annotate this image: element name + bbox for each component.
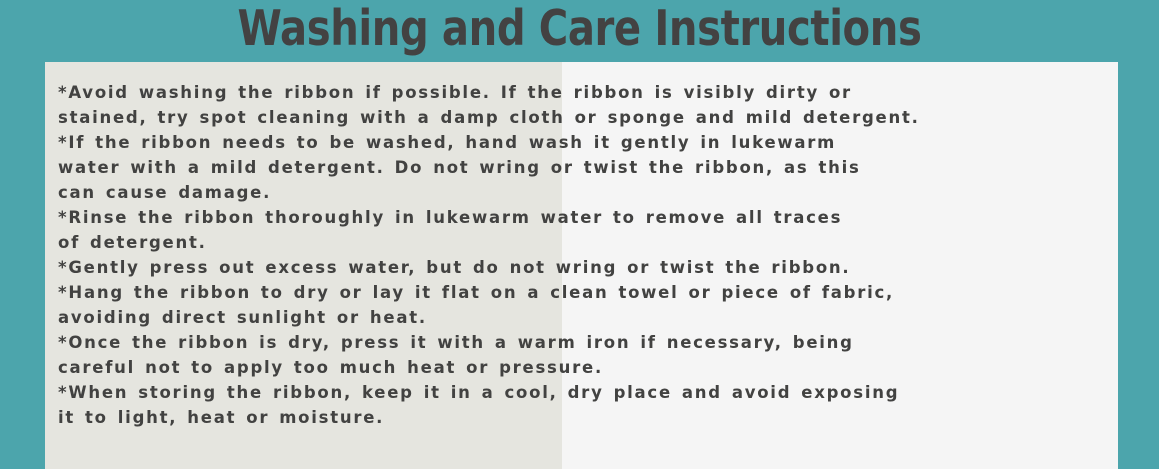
instruction-line: water with a mild detergent. Do not wrin… [58, 155, 1114, 180]
instructions-list: *Avoid washing the ribbon if possible. I… [58, 80, 1114, 450]
instruction-line: avoiding direct sunlight or heat. [58, 305, 1114, 330]
instruction-line: stained, try spot cleaning with a damp c… [58, 105, 1114, 130]
instruction-line: *Gently press out excess water, but do n… [58, 255, 1114, 280]
instruction-line: of detergent. [58, 230, 1114, 255]
instruction-line: *Once the ribbon is dry, press it with a… [58, 330, 1114, 355]
instruction-line: *When storing the ribbon, keep it in a c… [58, 380, 1114, 405]
instruction-line: *Hang the ribbon to dry or lay it flat o… [58, 280, 1114, 305]
instruction-line: careful not to apply too much heat or pr… [58, 355, 1114, 380]
poster-canvas: Washing and Care Instructions *Avoid was… [0, 0, 1159, 469]
instruction-line: can cause damage. [58, 180, 1114, 205]
instruction-line: *Avoid washing the ribbon if possible. I… [58, 80, 1114, 105]
instruction-line: *If the ribbon needs to be washed, hand … [58, 130, 1114, 155]
instruction-line: it to light, heat or moisture. [58, 405, 1114, 430]
instruction-line: *Rinse the ribbon thoroughly in lukewarm… [58, 205, 1114, 230]
page-title: Washing and Care Instructions [104, 0, 1054, 60]
